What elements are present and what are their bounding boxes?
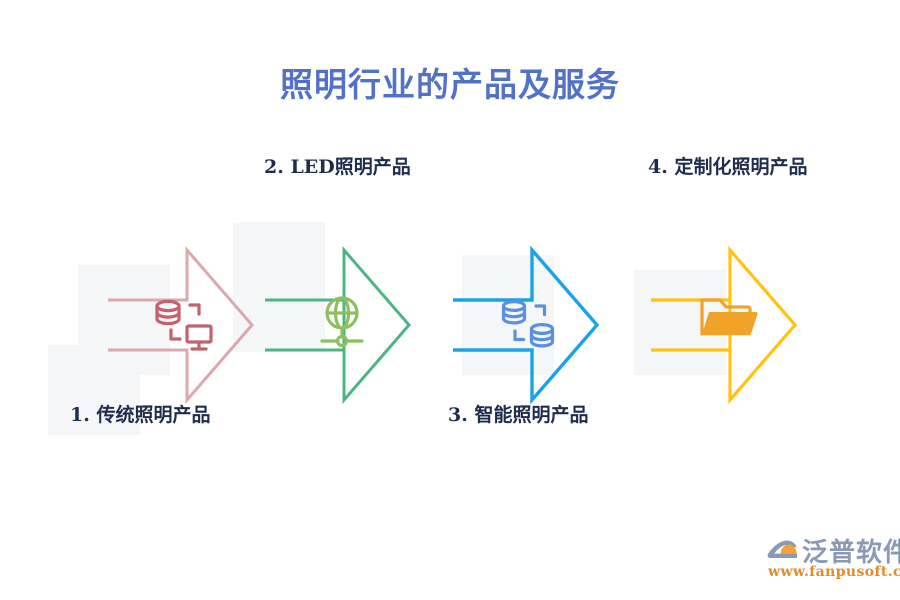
database-stack-icon (498, 293, 562, 357)
page-title: 照明行业的产品及服务 (0, 58, 900, 106)
step-2-arrow-group[interactable] (262, 240, 472, 410)
step-1-caption: 1. 传统照明产品 (70, 400, 210, 427)
folder-open-icon (696, 288, 760, 352)
step-4-caption: 4. 定制化照明产品 (648, 152, 807, 179)
step-3-arrow-group[interactable] (450, 240, 660, 410)
step-3-caption: 3. 智能照明产品 (448, 400, 588, 427)
brand-logo[interactable]: 泛普软件 www.fanpusoft.com (766, 530, 896, 590)
slide-canvas: 照明行业的产品及服务 (0, 0, 900, 600)
fanpu-logo-mark-icon (766, 534, 800, 562)
step-4-arrow-group[interactable] (648, 240, 858, 410)
globe-network-icon (310, 293, 374, 357)
database-monitor-icon (153, 293, 217, 357)
logo-url: www.fanpusoft.com (768, 564, 900, 580)
step-2-caption: 2. LED照明产品 (264, 152, 411, 179)
